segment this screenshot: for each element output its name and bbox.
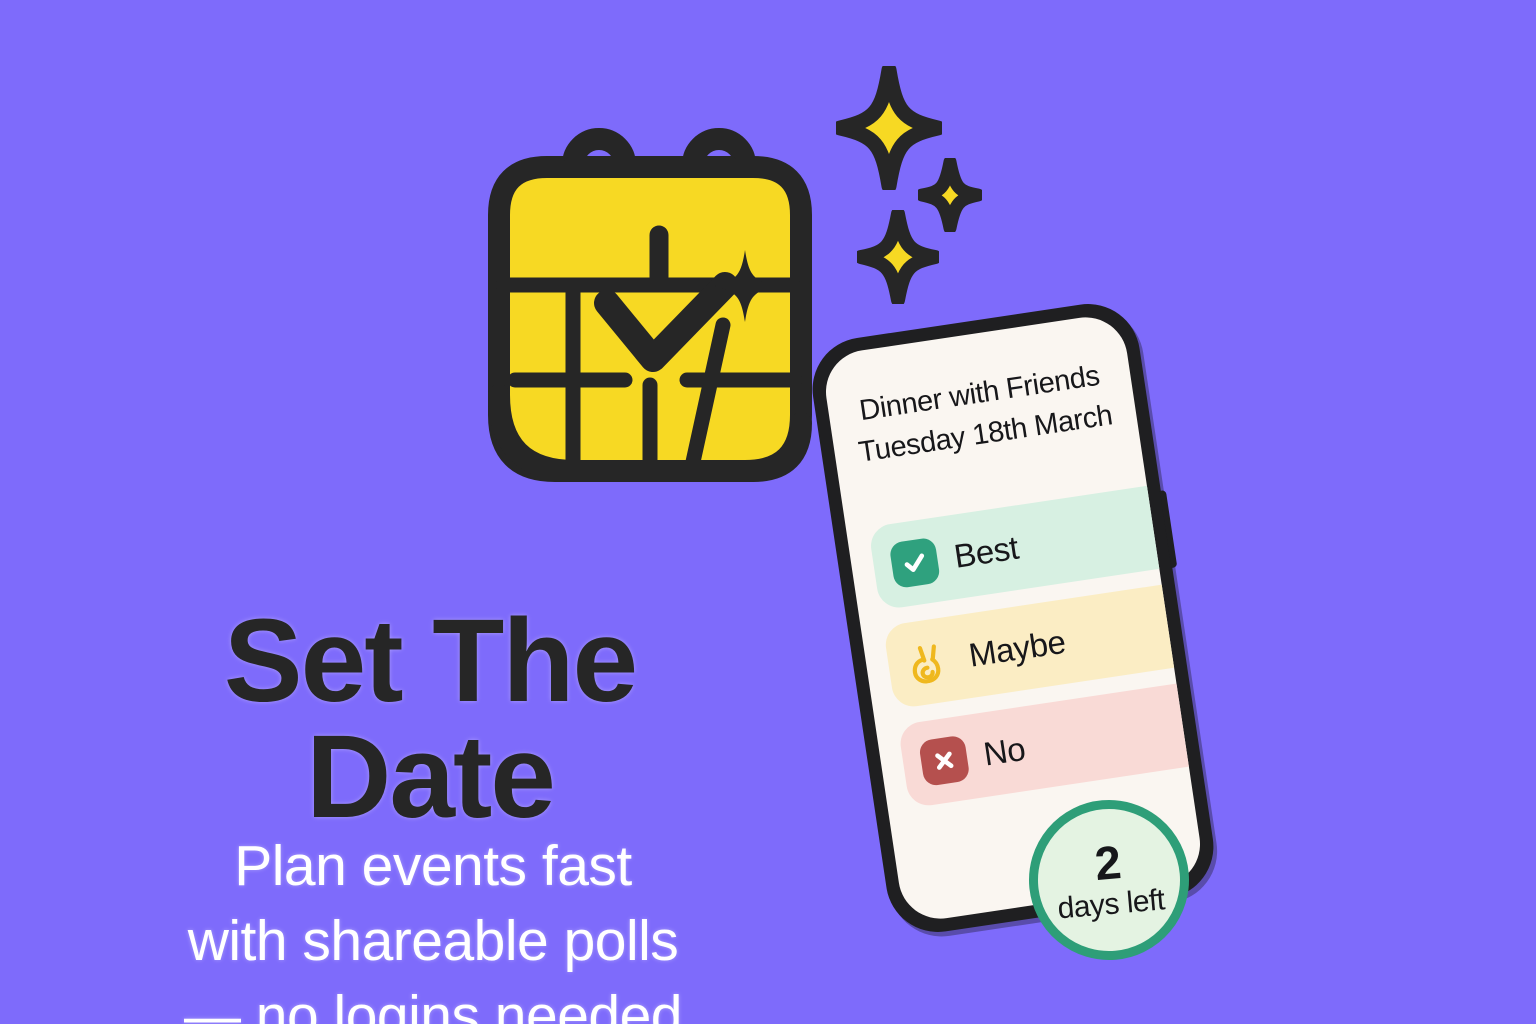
check-icon xyxy=(889,537,941,589)
cross-icon xyxy=(918,735,970,787)
poll-option-label: Best xyxy=(952,529,1021,576)
subtitle-line-2: with shareable polls xyxy=(0,904,866,979)
badge-count: 2 xyxy=(1093,838,1122,887)
page-title: Set The Date xyxy=(0,604,860,835)
badge-caption: days left xyxy=(1056,883,1166,925)
peace-hand-icon xyxy=(903,636,955,688)
title-line-2: Date xyxy=(0,720,860,836)
promo-banner: Set The Date Plan events fast with share… xyxy=(0,0,1536,1024)
subtitle-line-1: Plan events fast xyxy=(0,829,866,904)
title-line-1: Set The xyxy=(224,595,636,727)
calendar-check-icon xyxy=(455,95,845,495)
event-header: Dinner with Friends Tuesday 18th March xyxy=(827,355,1139,473)
subtitle-line-3: — no logins needed xyxy=(0,979,866,1024)
subtitle: Plan events fast with shareable polls — … xyxy=(0,829,866,1024)
sparkle-medium-icon xyxy=(857,210,939,309)
poll-option-label: Maybe xyxy=(966,623,1068,675)
poll-option-label: No xyxy=(981,730,1028,774)
